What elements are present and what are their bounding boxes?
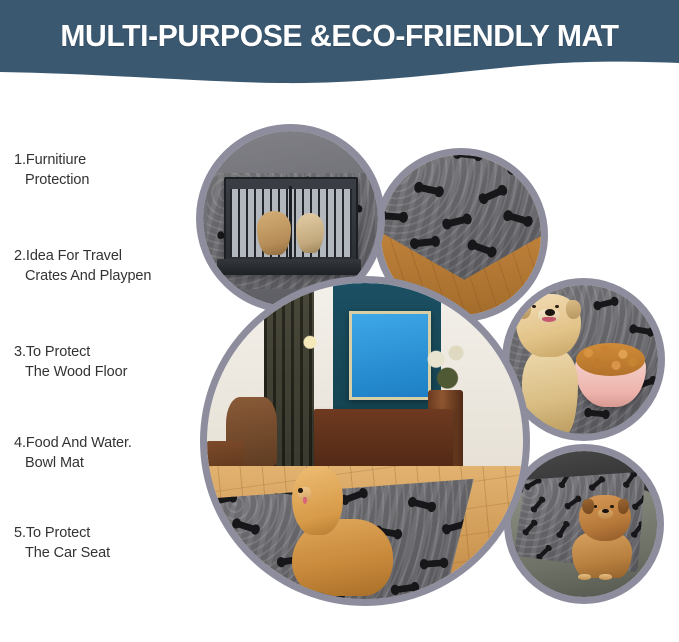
- photo-inner: [509, 285, 658, 434]
- feature-item-wood-floor: 3.To Protect The Wood Floor: [14, 342, 210, 382]
- photo-inner: [207, 283, 523, 599]
- brown-puppy: [569, 495, 639, 577]
- feature-line-1: 4.Food And Water.: [14, 433, 210, 453]
- dog-ear-right: [566, 300, 580, 319]
- puppy-head: [579, 495, 631, 541]
- dog-nose: [545, 309, 555, 316]
- photo-living-room-with-dog-on-mat: [200, 276, 530, 606]
- feature-line-1: 1.Furnitiure: [14, 150, 210, 170]
- puppy-ear-right: [618, 499, 629, 514]
- feature-item-travel-crates: 2.Idea For Travel Crates And Playpen: [14, 246, 210, 286]
- feature-line-2: Protection: [14, 170, 210, 190]
- table-lamp: [299, 327, 321, 378]
- dog-tongue: [303, 497, 307, 505]
- dog-head: [292, 466, 342, 535]
- feature-line-1: 5.To Protect: [14, 523, 210, 543]
- feature-item-car-seat: 5.To Protect The Car Seat: [14, 523, 210, 563]
- dog-eye-left: [532, 305, 536, 309]
- puppy-eye-left: [594, 505, 598, 508]
- dog-eye-right: [555, 305, 559, 309]
- photo-inner: [511, 451, 657, 597]
- dog-body: [522, 349, 577, 434]
- feature-line-2: Crates And Playpen: [14, 266, 210, 286]
- feature-line-1: 2.Idea For Travel: [14, 246, 210, 266]
- dog-nose: [298, 488, 302, 493]
- feature-item-food-water-bowl-mat: 4.Food And Water. Bowl Mat: [14, 433, 210, 473]
- flower-arrangement: [419, 334, 476, 397]
- feature-line-2: Bowl Mat: [14, 453, 210, 473]
- crate-base-tray: [217, 259, 361, 275]
- feature-item-furniture-protection: 1.Furnitiure Protection: [14, 150, 210, 190]
- golden-retriever-lying-down: [283, 466, 403, 599]
- feature-line-2: The Car Seat: [14, 543, 210, 563]
- photo-collage: [186, 108, 679, 642]
- product-infographic: MULTI-PURPOSE &ECO-FRIENDLY MAT 1.Furnit…: [0, 0, 679, 642]
- dog-inside-crate-second: [296, 213, 324, 253]
- feature-line-2: The Wood Floor: [14, 362, 210, 382]
- puppy-paw-left: [578, 574, 591, 580]
- header-banner: MULTI-PURPOSE &ECO-FRIENDLY MAT: [0, 0, 679, 96]
- metal-dog-crate: [224, 177, 358, 272]
- puppy-ear-left: [582, 499, 593, 514]
- feature-line-1: 3.To Protect: [14, 342, 210, 362]
- photo-puppy-on-car-seat: [504, 444, 664, 604]
- dog-inside-crate: [257, 211, 291, 255]
- page-title: MULTI-PURPOSE &ECO-FRIENDLY MAT: [10, 16, 669, 56]
- dog-head: [516, 294, 580, 357]
- puppy-eye-right: [610, 505, 614, 508]
- puppy-paw-right: [599, 574, 612, 580]
